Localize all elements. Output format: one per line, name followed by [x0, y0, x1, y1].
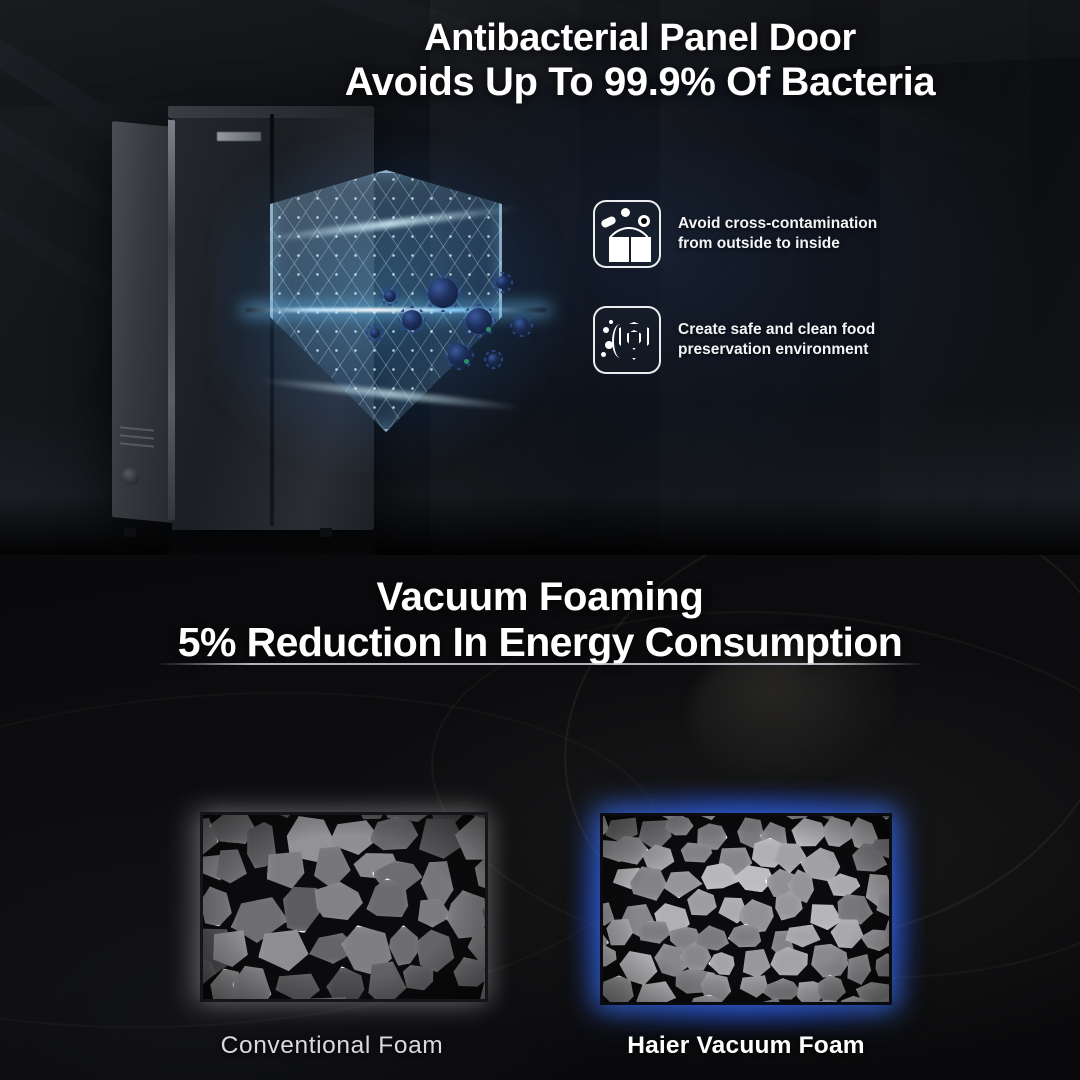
product-reflection: [168, 530, 374, 555]
germ-particle: [466, 308, 492, 334]
fridge-side-panel: [112, 121, 174, 523]
fridge-door-edge: [168, 120, 175, 521]
headline-line-2: 5% Reduction In Energy Consumption: [0, 620, 1080, 666]
headline-line-1: Antibacterial Panel Door: [200, 18, 1080, 60]
germ-glyph: [603, 327, 609, 333]
conventional-foam-image: [200, 812, 488, 1002]
impact-light-beam: [246, 308, 546, 312]
door-panel-glyph: [631, 237, 651, 262]
foam-cell: [719, 1002, 761, 1005]
germ-particle: [384, 290, 396, 302]
foam-cell: [274, 999, 315, 1002]
germ-particle: [428, 278, 458, 308]
antibacterial-panel-section: Antibacterial Panel Door Avoids Up To 99…: [0, 0, 1080, 555]
germ-particle: [514, 318, 529, 333]
germ-particle: [448, 344, 470, 366]
germ-particle: [488, 354, 499, 365]
antibacterial-shield-graphic: [252, 158, 532, 448]
image-frame: [600, 813, 892, 1005]
germ-glyph: [600, 215, 617, 229]
fridge-door-barrier-icon: [593, 200, 661, 268]
germ-glyph: [601, 352, 606, 357]
vacuum-foaming-section: Vacuum Foaming 5% Reduction In Energy Co…: [0, 555, 1080, 1080]
image-frame: [200, 812, 488, 1002]
door-panel-glyph: [609, 237, 629, 262]
germ-particle: [496, 276, 509, 289]
feature-row-cross-contamination: Avoid cross-contamination from outside t…: [593, 200, 877, 268]
fridge-foot: [124, 528, 136, 537]
foam-cell: [643, 1003, 684, 1005]
germ-glyph: [609, 320, 613, 324]
germ-glyph: [621, 208, 630, 217]
image-vignette: [203, 815, 485, 999]
foam-cell: [889, 969, 892, 997]
feature-label: Avoid cross-contamination from outside t…: [678, 214, 877, 254]
vacuum-headline: Vacuum Foaming 5% Reduction In Energy Co…: [0, 575, 1080, 666]
headline-line-2: Avoids Up To 99.9% Of Bacteria: [200, 60, 1080, 104]
feature-row-food-preservation: Create safe and clean food preservation …: [593, 306, 875, 374]
germ-particle: [402, 310, 422, 330]
haier-vacuum-foam-image: [600, 813, 892, 1005]
antibacterial-headline: Antibacterial Panel Door Avoids Up To 99…: [0, 18, 1080, 104]
foam-cell: [623, 813, 653, 815]
germ-particle: [370, 328, 380, 338]
caption-haier-vacuum-foam: Haier Vacuum Foam: [546, 1032, 946, 1060]
feature-label: Create safe and clean food preservation …: [678, 320, 875, 360]
foam-cell: [600, 813, 620, 814]
germ-glyph: [638, 215, 650, 227]
fridge-foot: [320, 528, 332, 537]
image-vignette: [603, 816, 889, 1002]
foam-cell: [487, 824, 488, 862]
shield-germ-icon: [593, 306, 661, 374]
section-divider: [160, 663, 920, 665]
headline-line-1: Vacuum Foaming: [0, 575, 1080, 620]
caption-conventional-foam: Conventional Foam: [132, 1032, 532, 1060]
